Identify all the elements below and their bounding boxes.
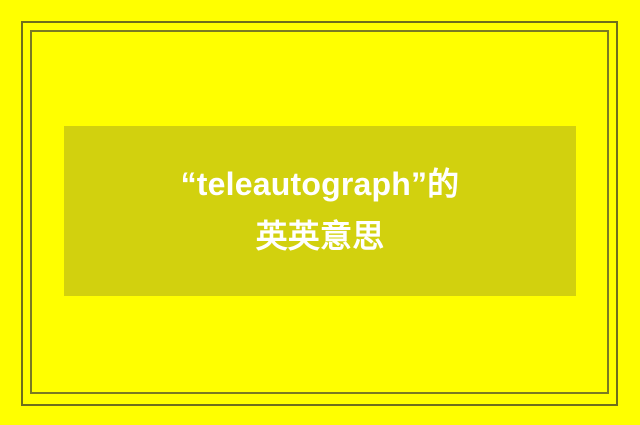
headline-banner: “teleautograph”的英英意思 (64, 126, 576, 296)
page-title: “teleautograph”的英英意思 (175, 159, 465, 263)
poster-canvas: “teleautograph”的英英意思 (0, 0, 640, 425)
